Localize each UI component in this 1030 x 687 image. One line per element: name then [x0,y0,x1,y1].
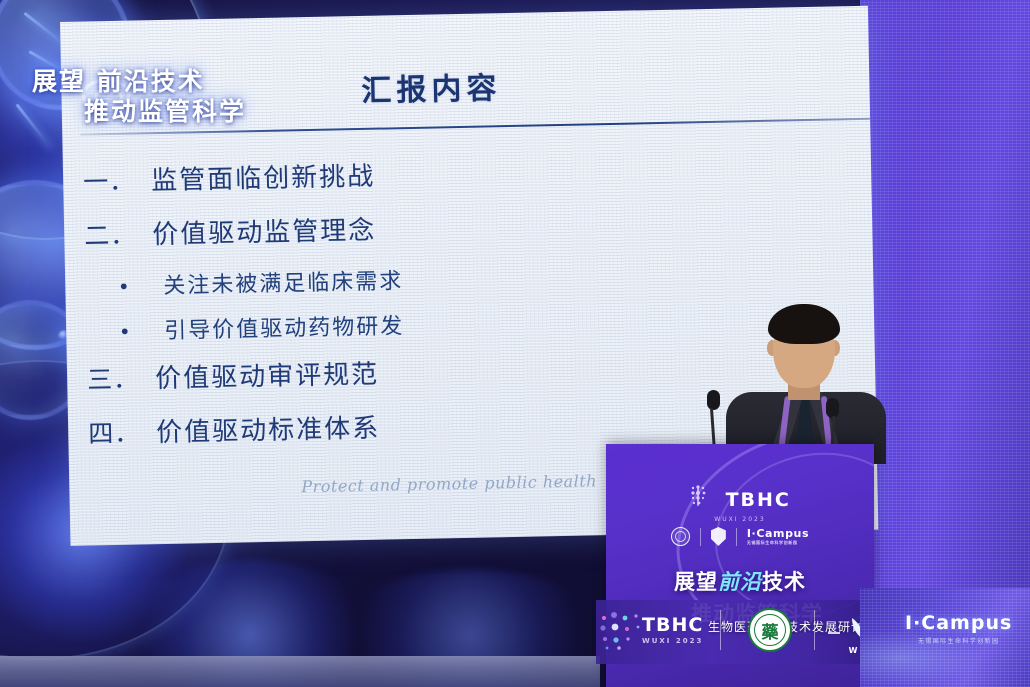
list-item-number: 四． [88,413,157,450]
banner-brand-name: TBHC [642,614,703,636]
list-item: • 引导价值驱动药物研发 [86,302,707,346]
list-item-label: 引导价值驱动药物研发 [164,308,405,345]
list-item: • 关注未被满足临床需求 [85,257,706,301]
slide-outline-list: 一． 监管面临创新挑战 二． 价值驱动监管理念 • 关注未被满足临床需求 • 引… [83,149,709,467]
china-pharmaceutical-university-seal-icon: 藥 [748,608,792,652]
icampus-logo: I·Campus 无锡国际生命科学创新园 [747,527,809,546]
list-item-number: 二． [84,215,153,252]
podium-theme-part-a: 展望 [674,570,718,594]
podium-theme-part-c: 技术 [762,570,806,594]
podium-brand-name: TBHC [726,489,791,511]
bullet-icon: • [86,319,164,345]
banner-brand-subtitle: WUXI 2023 [642,637,703,645]
tbhc-dot-matrix-icon [689,484,715,515]
conference-photo-scene: 汇报内容 一． 监管面临创新挑战 二． 价值驱动监管理念 • 关注未被满足临床需… [0,0,1030,687]
divider [814,610,815,650]
divider [700,528,701,546]
divider [736,528,737,546]
slide-footer-tagline: Protect and promote public health [301,471,597,496]
list-item-label: 价值驱动监管理念 [152,210,377,251]
list-item-number: 一． [83,161,152,198]
speaker-hair [768,304,840,344]
led-wall-right-panel [860,0,1030,588]
speaker-figure [718,300,893,460]
list-item-label: 价值驱动标准体系 [156,408,381,449]
icampus-watermark: I·Campus 无锡国际生命科学创新园 [905,612,1012,645]
list-item-label: 价值驱动审评规范 [155,354,380,395]
event-banner-strip: TBHC WUXI 2023 生物医药前沿技术发展研讨会 藥 W S I P [596,600,896,664]
divider [828,632,840,634]
bullet-icon: • [85,274,163,300]
list-item-label: 监管面临创新挑战 [151,156,376,197]
university-seal-icon [671,527,690,546]
podium-partner-logos: I·Campus 无锡国际生命科学创新园 [606,527,874,546]
overlay-theme-line-2: 推动监管科学 [84,92,246,128]
list-item: 三． 价值驱动审评规范 [87,347,708,396]
icampus-watermark-title: I·Campus [905,612,1012,634]
slide-title: 汇报内容 [361,63,502,110]
shield-emblem-icon [711,527,726,546]
podium-brand-subtitle: WUXI 2023 [606,516,874,523]
icampus-watermark-subtitle: 无锡国际生命科学创新园 [905,636,1012,645]
podium-theme-highlight: 前沿 [718,570,762,594]
podium-tbhc-logo: TBHC WUXI 2023 [606,484,874,523]
list-item-number: 三． [87,359,156,396]
broadcast-overlay-top-left: 展望 前沿技术 推动监管科学 [22,30,352,120]
banner-tbhc-logo: TBHC WUXI 2023 [642,614,703,645]
icampus-label: I·Campus [747,527,809,540]
seal-character: 藥 [750,610,790,650]
list-item: 二． 价值驱动监管理念 [84,203,705,252]
stage-floor [0,656,600,687]
list-item: 一． 监管面临创新挑战 [83,149,704,198]
list-item-label: 关注未被满足临床需求 [163,263,404,300]
icampus-sublabel: 无锡国际生命科学创新园 [747,540,809,546]
